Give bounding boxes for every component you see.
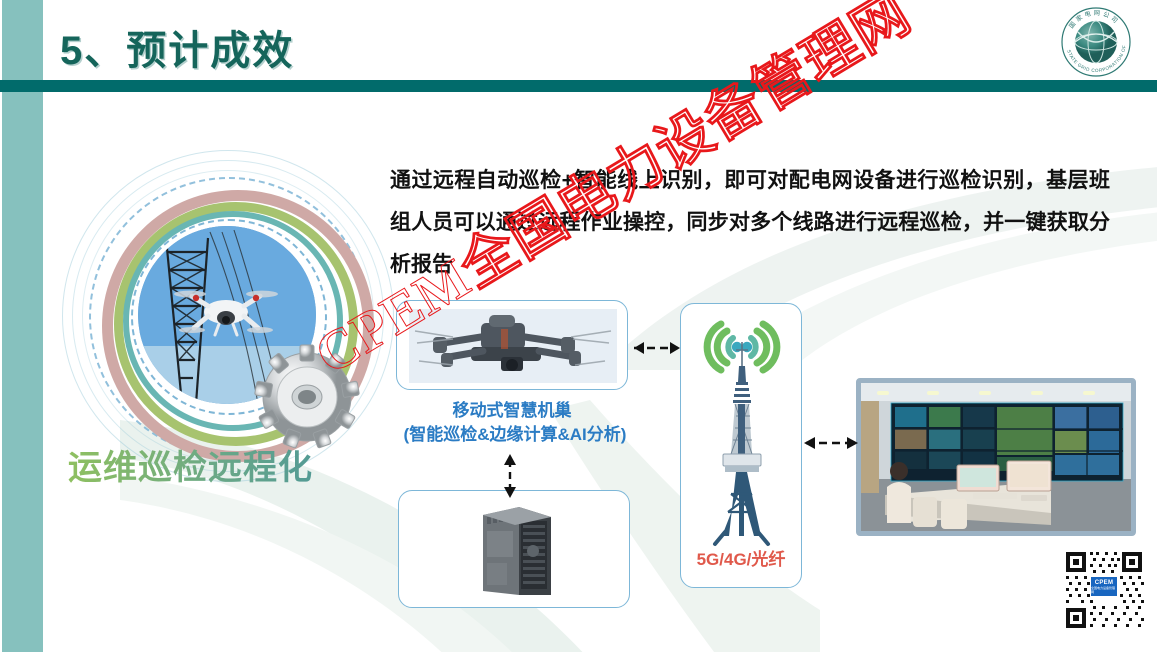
body-paragraph: 通过远程自动巡检+智能线上识别，即可对配电网设备进行巡检识别，基层班组人员可以通… [390, 160, 1110, 286]
nest-label-line1: 移动式智慧机巢 [396, 396, 628, 421]
state-grid-logo: 国家电网公司 STATE GRID CORPORATION OF CHINA [1060, 6, 1132, 78]
panel-control-room [856, 378, 1136, 536]
title-divider-rule [0, 80, 1157, 92]
left-art-caption: 运维巡检远程化 [68, 440, 398, 489]
slide-root: 5、预计成效 国家电网公司 STATE GRID C [0, 0, 1157, 652]
panel-server [398, 490, 630, 608]
control-room-photo [861, 383, 1131, 531]
arrow-nest-to-tower [624, 338, 688, 358]
tower-label-5g: 5G/4G/光纤 [680, 545, 802, 570]
nest-label-line2: (智能巡检&边缘计算&AI分析) [370, 420, 660, 445]
qr-center-logo: CPEM 全国电力设备管理网 [1090, 576, 1118, 597]
left-accent-band [2, 0, 43, 652]
qr-logo-sub: 全国电力设备管理网 [1091, 586, 1117, 594]
panel-smart-nest [396, 300, 628, 390]
gear-icon [248, 338, 366, 456]
arrow-tower-to-control-room [796, 433, 866, 453]
left-circular-artwork [62, 150, 392, 480]
page-title: 5、预计成效 [60, 18, 294, 76]
tower-graphic [681, 304, 803, 549]
drone-nest-photo [409, 309, 617, 383]
arrow-nest-to-server [500, 452, 520, 500]
server-photo [465, 499, 565, 601]
